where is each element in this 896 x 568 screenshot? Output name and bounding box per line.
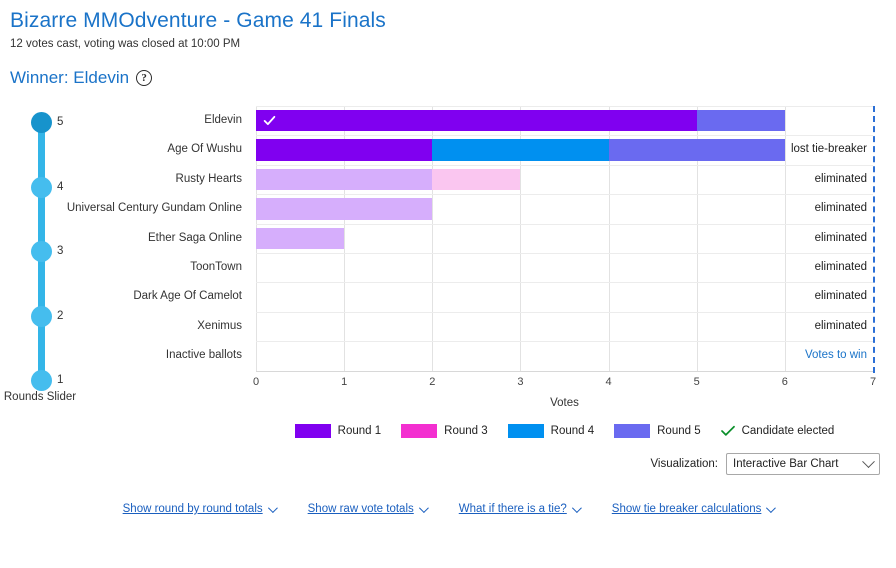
x-tick-7: 7 bbox=[858, 376, 888, 388]
bar-segment-round-4[interactable] bbox=[432, 139, 608, 160]
bar-segment-round-3[interactable] bbox=[432, 169, 520, 190]
chevron-down-icon bbox=[862, 455, 875, 468]
table-row: Ether Saga Onlineeliminated bbox=[0, 224, 896, 253]
legend-label: Round 1 bbox=[338, 425, 381, 437]
candidate-label: ToonTown bbox=[0, 253, 250, 282]
bar-track: eliminated bbox=[256, 224, 873, 253]
bar-track: eliminated bbox=[256, 282, 873, 311]
bar-track: eliminated bbox=[256, 312, 873, 341]
status-badge: lost tie-breaker bbox=[791, 135, 867, 164]
winner-label: Winner: Eldevin bbox=[10, 68, 129, 88]
visualization-control: Visualization: Interactive Bar Chart bbox=[650, 453, 880, 475]
disclosure-link[interactable]: What if there is a tie? bbox=[459, 503, 579, 515]
table-row: ToonTowneliminated bbox=[0, 253, 896, 282]
legend-item: Round 1 bbox=[295, 424, 381, 438]
status-badge: eliminated bbox=[815, 224, 867, 253]
x-tick-6: 6 bbox=[770, 376, 800, 388]
candidate-label: Inactive ballots bbox=[0, 341, 250, 370]
bar-track: eliminated bbox=[256, 194, 873, 223]
x-tick-2: 2 bbox=[417, 376, 447, 388]
legend-swatch bbox=[614, 424, 650, 438]
help-icon[interactable]: ? bbox=[136, 70, 152, 86]
candidate-label: Eldevin bbox=[0, 106, 250, 135]
bar-segment-round-1[interactable] bbox=[256, 139, 432, 160]
table-row: Rusty Heartseliminated bbox=[0, 165, 896, 194]
status-badge: eliminated bbox=[815, 165, 867, 194]
bar-segment-round-1[interactable] bbox=[256, 169, 432, 190]
votes-to-win-threshold-line bbox=[873, 106, 875, 373]
candidate-label: Age Of Wushu bbox=[0, 135, 250, 164]
table-row: Age Of Wushulost tie-breaker bbox=[0, 135, 896, 164]
status-badge: eliminated bbox=[815, 194, 867, 223]
chevron-down-icon bbox=[268, 503, 278, 513]
candidate-label: Dark Age Of Camelot bbox=[0, 282, 250, 311]
bottom-links: Show round by round totalsShow raw vote … bbox=[0, 503, 896, 515]
disclosure-link[interactable]: Show raw vote totals bbox=[308, 503, 426, 515]
legend-label: Candidate elected bbox=[742, 425, 835, 437]
bar-segment-round-5[interactable] bbox=[609, 139, 785, 160]
page-title: Bizarre MMOdventure - Game 41 Finals bbox=[10, 8, 896, 34]
visualization-label: Visualization: bbox=[650, 458, 718, 470]
status-badge: eliminated bbox=[815, 312, 867, 341]
axis-baseline bbox=[256, 371, 873, 372]
table-row: Inactive ballotsVotes to win bbox=[0, 341, 896, 370]
legend-item: Candidate elected bbox=[721, 425, 835, 437]
chevron-down-icon bbox=[572, 503, 582, 513]
bar-chart: EldevinAge Of Wushulost tie-breakerRusty… bbox=[0, 106, 896, 391]
bar-segment-round-1[interactable] bbox=[256, 110, 697, 131]
chart-legend: Round 1Round 3Round 4Round 5Candidate el… bbox=[256, 424, 873, 438]
disclosure-link[interactable]: Show round by round totals bbox=[123, 503, 275, 515]
legend-swatch bbox=[295, 424, 331, 438]
slider-caption: Rounds Slider bbox=[0, 390, 80, 404]
legend-item: Round 3 bbox=[401, 424, 487, 438]
bar-track bbox=[256, 106, 873, 135]
legend-swatch bbox=[508, 424, 544, 438]
visualization-selected-value: Interactive Bar Chart bbox=[733, 458, 838, 470]
candidate-elected-check-icon bbox=[263, 114, 276, 127]
candidate-label: Rusty Hearts bbox=[0, 165, 250, 194]
x-tick-0: 0 bbox=[241, 376, 271, 388]
page-header: Bizarre MMOdventure - Game 41 Finals 12 … bbox=[0, 0, 896, 88]
winner-row: Winner: Eldevin ? bbox=[10, 68, 896, 88]
table-row: Universal Century Gundam Onlineeliminate… bbox=[0, 194, 896, 223]
votes-to-win-label[interactable]: Votes to win bbox=[805, 341, 867, 370]
legend-label: Round 3 bbox=[444, 425, 487, 437]
candidate-label: Universal Century Gundam Online bbox=[0, 194, 250, 223]
bar-track: eliminated bbox=[256, 165, 873, 194]
bar-track: eliminated bbox=[256, 253, 873, 282]
legend-item: Round 5 bbox=[614, 424, 700, 438]
x-tick-3: 3 bbox=[505, 376, 535, 388]
candidate-elected-check-icon bbox=[721, 425, 735, 437]
chevron-down-icon bbox=[766, 503, 776, 513]
bar-track: Votes to win bbox=[256, 341, 873, 370]
legend-item: Round 4 bbox=[508, 424, 594, 438]
status-badge: eliminated bbox=[815, 282, 867, 311]
disclosure-link-label: Show round by round totals bbox=[123, 503, 263, 515]
disclosure-link-label: Show tie breaker calculations bbox=[612, 503, 762, 515]
disclosure-link-label: Show raw vote totals bbox=[308, 503, 414, 515]
table-row: Xenimuseliminated bbox=[0, 312, 896, 341]
candidate-label: Ether Saga Online bbox=[0, 224, 250, 253]
disclosure-link[interactable]: Show tie breaker calculations bbox=[612, 503, 774, 515]
visualization-select[interactable]: Interactive Bar Chart bbox=[726, 453, 880, 475]
x-tick-4: 4 bbox=[594, 376, 624, 388]
legend-label: Round 4 bbox=[551, 425, 594, 437]
table-row: Dark Age Of Cameloteliminated bbox=[0, 282, 896, 311]
chevron-down-icon bbox=[419, 503, 429, 513]
status-badge: eliminated bbox=[815, 253, 867, 282]
candidate-label: Xenimus bbox=[0, 312, 250, 341]
x-tick-1: 1 bbox=[329, 376, 359, 388]
disclosure-link-label: What if there is a tie? bbox=[459, 503, 567, 515]
legend-swatch bbox=[401, 424, 437, 438]
table-row: Eldevin bbox=[0, 106, 896, 135]
bar-segment-round-1[interactable] bbox=[256, 228, 344, 249]
x-axis-label: Votes bbox=[256, 397, 873, 409]
x-tick-5: 5 bbox=[682, 376, 712, 388]
page-subtitle: 12 votes cast, voting was closed at 10:0… bbox=[10, 37, 896, 51]
bar-segment-round-1[interactable] bbox=[256, 198, 432, 219]
legend-label: Round 5 bbox=[657, 425, 700, 437]
bar-track: lost tie-breaker bbox=[256, 135, 873, 164]
bar-segment-round-5[interactable] bbox=[697, 110, 785, 131]
